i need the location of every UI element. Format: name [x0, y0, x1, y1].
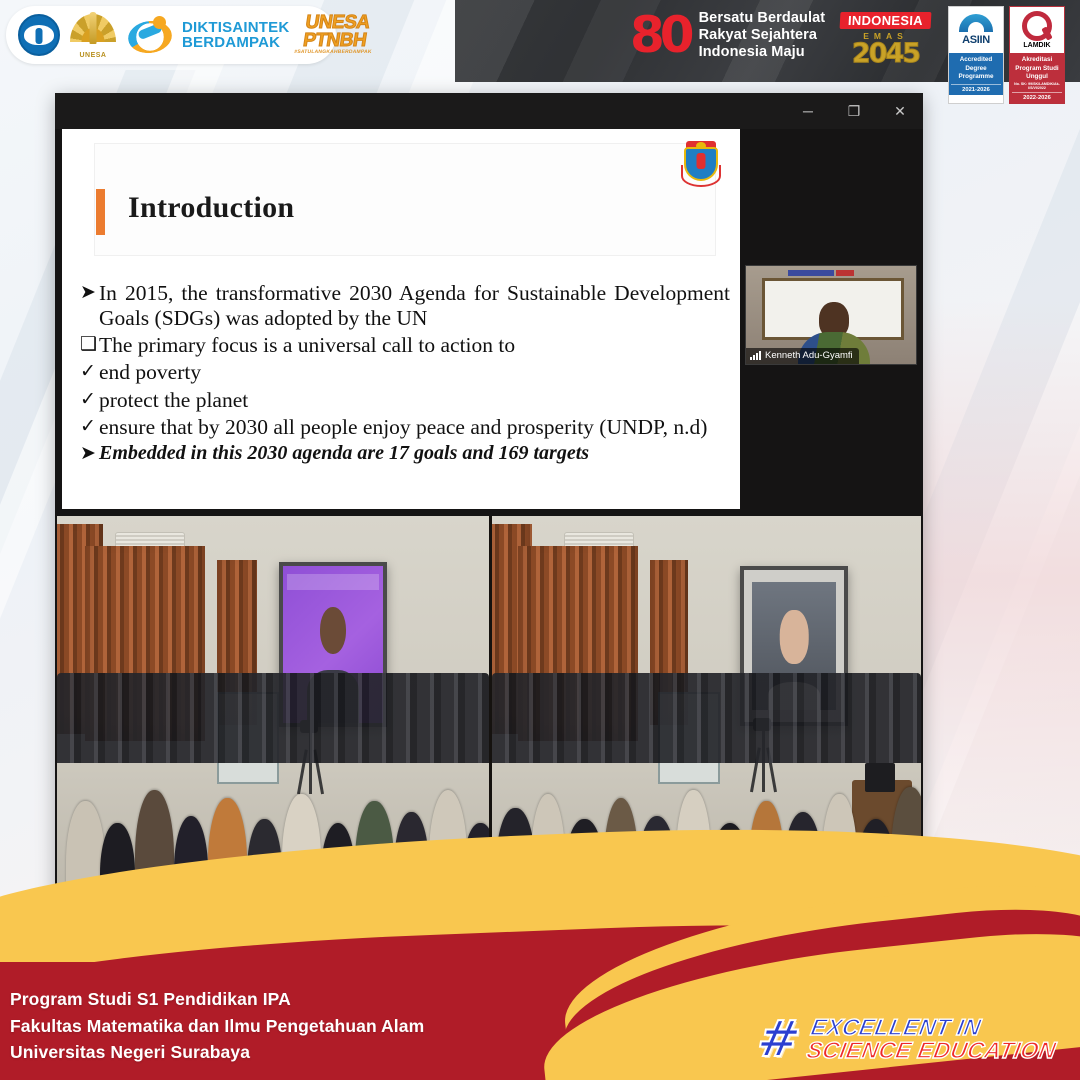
asiin-badge: ASIIN Accredited Degree Programme 2021-2…: [948, 6, 1004, 104]
footer-affiliation: Program Studi S1 Pendidikan IPA Fakultas…: [10, 986, 424, 1066]
bullet-arrow-icon: ➤: [80, 281, 99, 305]
bullet-text: Embedded in this 2030 agenda are 17 goal…: [99, 442, 730, 465]
window-titlebar: ─ ❐ ✕: [55, 93, 923, 129]
poster-canvas: UNESA DIKTISAINTEK BERDAMPAK UNESA PTNBH…: [0, 0, 1080, 1080]
diktisaintek-line1: DIKTISAINTEK: [182, 20, 289, 35]
campaign-hashtag-logo: # EXCELLENT IN SCIENCE EDUCATION: [758, 1016, 1058, 1062]
lamdik-badge: LAMDIK Akreditasi Program Studi Unggul N…: [1009, 6, 1065, 104]
hashtag-wordmark: EXCELLENT IN SCIENCE EDUCATION: [805, 1016, 1062, 1062]
emas-year: 2045: [833, 41, 938, 67]
signal-bars-icon: [750, 351, 761, 360]
indonesia-emas-logo: INDONESIA EMAS 2045: [833, 12, 938, 70]
restore-button[interactable]: ❐: [831, 93, 877, 129]
ptnbh-line2: PTNBH: [295, 33, 375, 51]
footer-line-university: Universitas Negeri Surabaya: [10, 1039, 424, 1066]
asiin-mark-icon: ASIIN: [949, 7, 1003, 53]
unesa-logo-caption: UNESA: [68, 52, 118, 59]
asiin-line2: Degree: [951, 65, 1001, 74]
hashtag-icon: #: [755, 1019, 804, 1059]
bullet-text: protect the planet: [99, 388, 730, 413]
meeting-app-window: ─ ❐ ✕ Introduction ➤ In 2015, the transf…: [55, 93, 923, 930]
institution-logo-bar: UNESA DIKTISAINTEK BERDAMPAK UNESA PTNBH…: [6, 6, 336, 64]
ptnbh-tagline: #SATULANGKAHBERDAMPAK: [294, 51, 372, 56]
lamdik-decree: No. SK: 99/SK/LAMDIK/Ak-I/S/VI/2022: [1012, 82, 1062, 91]
slide-title-accent-bar: [96, 189, 105, 235]
diktisaintek-line2: BERDAMPAK: [182, 35, 289, 50]
close-button[interactable]: ✕: [877, 93, 923, 129]
anniversary-number: 80: [630, 14, 690, 57]
bullet-text: The primary focus is a universal call to…: [99, 333, 730, 358]
lamdik-wordmark: LAMDIK: [1023, 42, 1050, 49]
accreditation-badges: ASIIN Accredited Degree Programme 2021-2…: [948, 6, 1065, 104]
hashtag-line2: SCIENCE EDUCATION: [805, 1039, 1058, 1062]
anniversary-slogan-line1: Bersatu Berdaulat: [699, 10, 826, 27]
bullet-text: ensure that by 2030 all people enjoy pea…: [99, 415, 730, 440]
list-item: ❑ The primary focus is a universal call …: [80, 333, 730, 358]
anniversary-slogan-line3: Indonesia Maju: [699, 44, 826, 61]
diktisaintek-wordmark: DIKTISAINTEK BERDAMPAK: [182, 20, 289, 51]
list-item: ✓ protect the planet: [80, 388, 730, 413]
asiin-wordmark: ASIIN: [962, 34, 990, 46]
tile-wall-strip: [836, 270, 854, 276]
bullet-arrow-icon: ➤: [80, 442, 99, 466]
hashtag-line1: EXCELLENT IN: [809, 1016, 1062, 1039]
slide-title: Introduction: [128, 191, 294, 225]
lamdik-line3: Unggul: [1012, 73, 1062, 82]
asiin-badge-body: Accredited Degree Programme 2021-2026: [949, 53, 1003, 95]
bullet-check-icon: ✓: [80, 415, 99, 439]
asiin-years: 2021-2026: [951, 84, 1001, 93]
minimize-button[interactable]: ─: [785, 93, 831, 129]
lamdik-mark-icon: LAMDIK: [1010, 7, 1064, 53]
anniversary-slogan: Bersatu Berdaulat Rakyat Sejahtera Indon…: [699, 10, 826, 60]
diktisaintek-mark-icon: [126, 13, 174, 57]
list-item: ➤ In 2015, the transformative 2030 Agend…: [80, 281, 730, 331]
participant-name-badge: Kenneth Adu-Gyamfi: [746, 348, 859, 364]
participant-video-tile[interactable]: Kenneth Adu-Gyamfi: [745, 265, 917, 365]
tile-wall-strip: [788, 270, 834, 276]
asiin-line1: Accredited: [951, 56, 1001, 65]
list-item: ➤ Embedded in this 2030 agenda are 17 go…: [80, 442, 730, 466]
lamdik-line1: Akreditasi: [1012, 56, 1062, 65]
bullet-square-icon: ❑: [80, 333, 99, 357]
background-blush: [900, 300, 1080, 860]
unesa-logo: UNESA: [68, 12, 118, 58]
slide-bullet-list: ➤ In 2015, the transformative 2030 Agend…: [80, 281, 730, 468]
asiin-line3: Programme: [951, 73, 1001, 82]
lamdik-years: 2022-2026: [1012, 92, 1062, 101]
lamdik-badge-body: Akreditasi Program Studi Unggul No. SK: …: [1010, 53, 1064, 103]
anniversary-80-logo: 80 Bersatu Berdaulat Rakyat Sejahtera In…: [630, 10, 825, 60]
tut-wuri-handayani-logo: [18, 14, 60, 56]
participant-name: Kenneth Adu-Gyamfi: [765, 350, 853, 361]
anniversary-slogan-line2: Rakyat Sejahtera: [699, 27, 826, 44]
bullet-check-icon: ✓: [80, 388, 99, 412]
poster-header: UNESA DIKTISAINTEK BERDAMPAK UNESA PTNBH…: [0, 0, 1080, 88]
shared-slide: Introduction ➤ In 2015, the transformati…: [62, 129, 740, 509]
bullet-check-icon: ✓: [80, 360, 99, 384]
list-item: ✓ end poverty: [80, 360, 730, 385]
bullet-text: In 2015, the transformative 2030 Agenda …: [99, 281, 730, 331]
footer-line-program: Program Studi S1 Pendidikan IPA: [10, 986, 424, 1013]
university-crest-icon: [680, 139, 722, 189]
bullet-text: end poverty: [99, 360, 730, 385]
footer-line-faculty: Fakultas Matematika dan Ilmu Pengetahuan…: [10, 1013, 424, 1040]
unesa-ptnbh-logo: UNESA PTNBH #SATULANGKAHBERDAMPAK: [294, 14, 378, 55]
list-item: ✓ ensure that by 2030 all people enjoy p…: [80, 415, 730, 440]
lamdik-line2: Program Studi: [1012, 65, 1062, 74]
emas-ribbon-label: INDONESIA: [840, 12, 932, 29]
